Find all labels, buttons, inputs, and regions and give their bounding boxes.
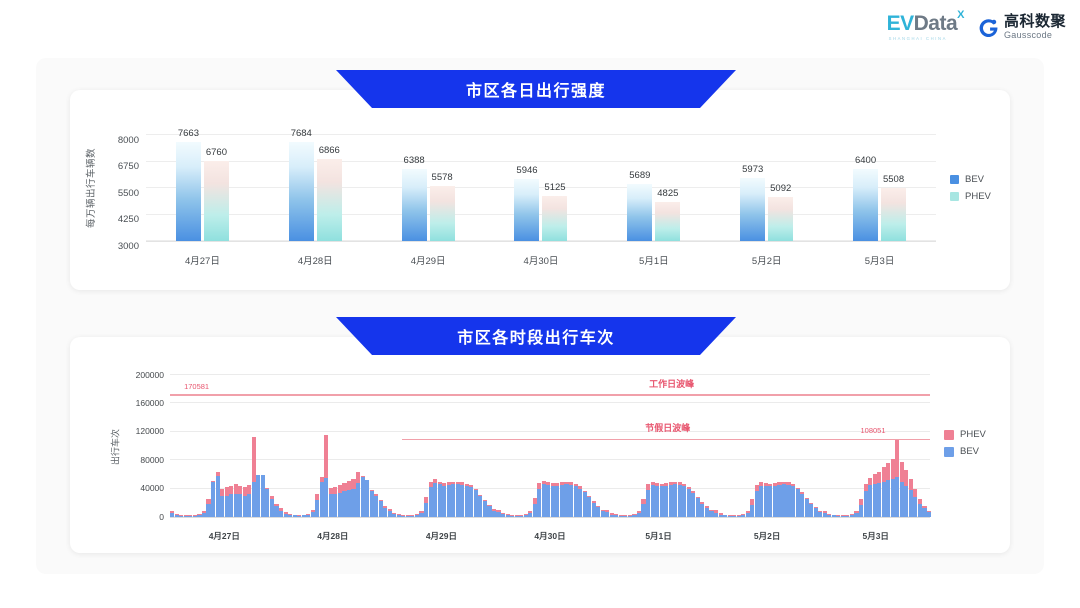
chart1-bar-phev[interactable]: 5508	[881, 188, 906, 241]
chart1-legend-item-bev[interactable]: BEV	[950, 174, 991, 185]
chart2-legend-label: BEV	[960, 446, 979, 457]
chart1-bar-value-label: 4825	[657, 188, 678, 199]
chart2-legend-item-bev[interactable]: BEV	[944, 446, 986, 457]
chart2-annotation-label-holiday-peak: 节假日波峰	[645, 421, 690, 434]
legend-swatch-icon	[944, 447, 954, 457]
chart2-bars-container	[170, 375, 930, 517]
chart1-bar-value-label: 5578	[432, 172, 453, 183]
chart2-annotation-line-holiday-peak	[402, 439, 930, 441]
chart1-bar-value-label: 5125	[544, 182, 565, 193]
chart2-x-tick-label: 5月3日	[862, 530, 888, 542]
chart1-bar-group: 594651254月30日	[485, 135, 598, 241]
chart1-legend-item-phev[interactable]: PHEV	[950, 191, 991, 202]
chart1-bar-value-label: 6760	[206, 147, 227, 158]
legend-swatch-icon	[950, 175, 959, 184]
chart2-annotation-value-108051: 108051	[860, 426, 885, 435]
chart1-legend-label: PHEV	[965, 191, 991, 202]
chart1-bar-bev[interactable]: 5946	[514, 179, 539, 241]
chart1-x-axis-line	[146, 241, 936, 242]
chart2-legend: PHEVBEV	[944, 429, 986, 457]
chart1-bar-bev[interactable]: 7663	[176, 142, 201, 241]
evdata-data-text: Data	[914, 13, 958, 34]
chart1-y-tick-label: 4250	[118, 214, 139, 215]
chart1-bar-bev[interactable]: 5689	[627, 184, 652, 241]
chart1-y-tick-label: 3000	[118, 240, 139, 241]
evdata-logo: EVDataX SHANGHAI CHINA	[887, 13, 964, 41]
chart1-bar-phev[interactable]: 5092	[768, 197, 793, 241]
chart1-bar-bev[interactable]: 5973	[740, 178, 765, 241]
chart1-plot-area: 30004250550067508000766367604月27日7684686…	[146, 135, 936, 241]
chart2-y-tick-label: 200000	[136, 370, 164, 380]
chart1-bar-value-label: 6866	[319, 145, 340, 156]
chart1-bar-value-label: 5508	[883, 174, 904, 185]
chart1-x-tick-label: 5月1日	[639, 253, 669, 267]
chart2-stacked-bar[interactable]	[927, 375, 932, 517]
chart2-y-tick-label: 160000	[136, 398, 164, 408]
chart2-annotation-label-weekday-peak: 工作日波峰	[649, 377, 694, 390]
evdata-subtitle: SHANGHAI CHINA	[889, 36, 947, 41]
chart2-legend-item-phev[interactable]: PHEV	[944, 429, 986, 440]
chart2-plot-area: 040000800001200001600002000004月27日4月28日4…	[170, 375, 930, 517]
chart1-x-tick-label: 5月3日	[865, 253, 895, 267]
evdata-ev-text: EV	[887, 13, 914, 34]
chart1-bar-group: 766367604月27日	[146, 135, 259, 241]
chart2-y-tick-label: 80000	[140, 455, 164, 465]
chart2-annotation-value-170581: 170581	[184, 382, 209, 391]
chart1-bar-group: 768468664月28日	[259, 135, 372, 241]
chart1-y-tick-label: 8000	[118, 134, 139, 135]
chart1-y-axis-label: 每万辆出行车辆数	[83, 148, 97, 228]
legend-swatch-icon	[950, 192, 959, 201]
gausscode-mark-icon	[978, 17, 999, 38]
chart1-bar-group: 640055085月3日	[823, 135, 936, 241]
chart1-x-tick-label: 4月29日	[411, 253, 446, 267]
chart1-x-tick-label: 4月27日	[185, 253, 220, 267]
chart1-bar-phev[interactable]: 5578	[430, 186, 455, 241]
chart1-legend: BEVPHEV	[950, 174, 991, 202]
chart2-x-tick-label: 4月30日	[534, 530, 565, 542]
chart1-bar-value-label: 5092	[770, 183, 791, 194]
chart1-bar-group: 638855784月29日	[372, 135, 485, 241]
chart2-y-axis-label: 出行车次	[109, 429, 122, 465]
chart-daily-intensity: 每万辆出行车辆数 30004250550067508000766367604月2…	[70, 90, 1010, 290]
chart2-y-tick-label: 40000	[140, 483, 164, 493]
evdata-superscript-x: X	[957, 10, 964, 21]
section-banner-daily-intensity: 市区各日出行强度	[336, 70, 736, 108]
chart1-bar-bev[interactable]: 7684	[289, 142, 314, 241]
section-title-hourly-trips: 市区各时段出行车次	[457, 324, 615, 348]
chart1-y-tick-label: 6750	[118, 161, 139, 162]
gausscode-text: 高科数聚 Gausscode	[1004, 14, 1066, 40]
chart2-x-tick-label: 5月2日	[754, 530, 780, 542]
chart1-bar-group: 568948255月1日	[597, 135, 710, 241]
chart1-bar-bev[interactable]: 6400	[853, 169, 878, 241]
chart2-x-tick-label: 4月28日	[317, 530, 348, 542]
chart2-x-tick-label: 5月1日	[645, 530, 671, 542]
chart1-bar-value-label: 7684	[291, 128, 312, 139]
chart1-bar-phev[interactable]: 6760	[204, 161, 229, 241]
section-banner-hourly-trips: 市区各时段出行车次	[336, 317, 736, 355]
chart2-x-tick-label: 4月27日	[209, 530, 240, 542]
evdata-wordmark: EVDataX	[887, 13, 964, 34]
gausscode-en-name: Gausscode	[1004, 31, 1066, 40]
chart1-bar-value-label: 5973	[742, 164, 763, 175]
legend-swatch-icon	[944, 430, 954, 440]
chart1-y-tick-label: 5500	[118, 187, 139, 188]
slide-page: EVDataX SHANGHAI CHINA 高科数聚 Gausscode 市区…	[0, 0, 1080, 608]
section-title-daily-intensity: 市区各日出行强度	[466, 77, 606, 101]
chart1-bar-phev[interactable]: 4825	[655, 202, 680, 241]
chart1-bar-bev[interactable]: 6388	[402, 169, 427, 241]
chart1-bar-value-label: 6388	[404, 155, 425, 166]
chart1-x-tick-label: 4月30日	[524, 253, 559, 267]
chart1-bar-phev[interactable]: 6866	[317, 159, 342, 241]
chart1-legend-label: BEV	[965, 174, 984, 185]
chart-hourly-trips: 出行车次 040000800001200001600002000004月27日4…	[70, 337, 1010, 553]
chart1-bar-value-label: 7663	[178, 128, 199, 139]
chart2-legend-label: PHEV	[960, 429, 986, 440]
gausscode-cn-name: 高科数聚	[1004, 14, 1066, 29]
chart2-annotation-line-weekday-peak	[170, 394, 930, 396]
chart1-bar-value-label: 5946	[516, 165, 537, 176]
chart2-x-tick-label: 4月29日	[426, 530, 457, 542]
chart1-bar-value-label: 6400	[855, 155, 876, 166]
header-logo-bar: EVDataX SHANGHAI CHINA 高科数聚 Gausscode	[887, 13, 1066, 41]
gausscode-logo: 高科数聚 Gausscode	[978, 14, 1066, 40]
chart1-bar-value-label: 5689	[629, 170, 650, 181]
chart1-bar-phev[interactable]: 5125	[542, 196, 567, 241]
chart1-x-tick-label: 4月28日	[298, 253, 333, 267]
chart1-bar-group: 597350925月2日	[710, 135, 823, 241]
chart2-x-axis-line	[170, 517, 930, 518]
chart2-y-tick-label: 120000	[136, 426, 164, 436]
chart2-y-tick-label: 0	[159, 512, 164, 522]
chart1-x-tick-label: 5月2日	[752, 253, 782, 267]
